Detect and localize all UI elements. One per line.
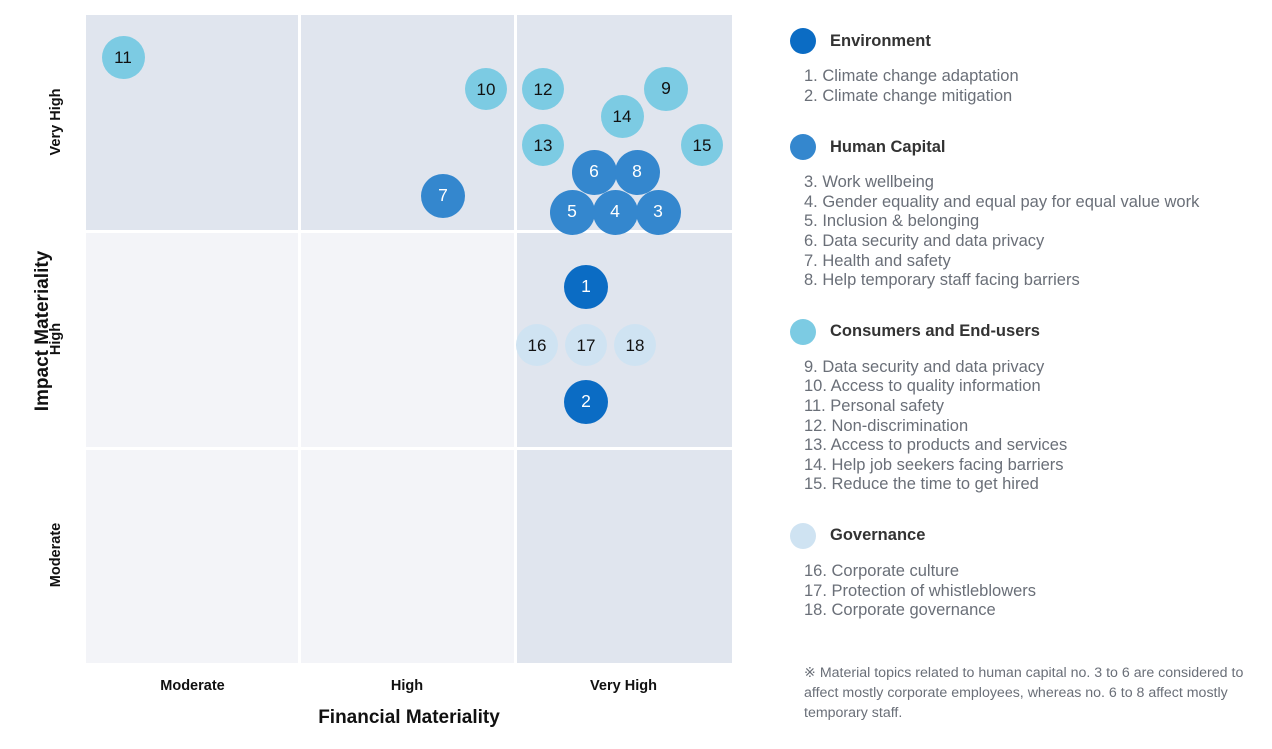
grid-cell-r2-c1 <box>299 448 515 663</box>
bubble-label: 15 <box>693 137 712 154</box>
bubble-label: 7 <box>438 187 448 205</box>
bubble-8[interactable]: 8 <box>615 150 660 195</box>
bubble-label: 1 <box>581 278 591 296</box>
legend-group-environment: Environment1. Climate change adaptation2… <box>790 26 1260 126</box>
grid-vline-1 <box>298 15 301 663</box>
legend-item-consumers-4[interactable]: 12. Non-discrimination <box>804 417 1260 437</box>
legend-group-spacer <box>790 291 1260 311</box>
grid-cell-r0-c1 <box>299 15 515 231</box>
y-tick-very-high: Very High <box>48 47 64 197</box>
legend-item-environment-1[interactable]: 1. Climate change adaptation <box>804 67 1260 87</box>
bubble-label: 6 <box>589 163 599 181</box>
legend-swatch-human_capital-circle-icon <box>790 134 816 160</box>
bubble-label: 12 <box>534 81 553 98</box>
bubble-6[interactable]: 6 <box>572 150 617 195</box>
bubble-label: 4 <box>610 203 620 221</box>
legend-items-human_capital: 3. Work wellbeing4. Gender equality and … <box>804 173 1260 291</box>
legend-item-environment-2[interactable]: 2. Climate change mitigation <box>804 87 1260 107</box>
legend-item-human_capital-5[interactable]: 7. Health and safety <box>804 252 1260 272</box>
legend-header-consumers[interactable]: Consumers and End-users <box>790 317 1260 347</box>
legend-title-consumers: Consumers and End-users <box>830 322 1040 341</box>
grid-hline-1 <box>86 230 732 233</box>
legend-item-human_capital-4[interactable]: 6. Data security and data privacy <box>804 232 1260 252</box>
legend-group-consumers: Consumers and End-users9. Data security … <box>790 317 1260 515</box>
x-tick-very-high: Very High <box>524 678 724 694</box>
bubble-7[interactable]: 7 <box>421 174 465 218</box>
legend-swatch-consumers-circle-icon <box>790 319 816 345</box>
bubble-18[interactable]: 18 <box>614 324 656 366</box>
legend-item-consumers-6[interactable]: 14. Help job seekers facing barriers <box>804 456 1260 476</box>
grid-cell-r2-c2 <box>515 448 732 663</box>
grid-cell-r1-c1 <box>299 231 515 448</box>
bubble-label: 8 <box>632 163 642 181</box>
bubble-9[interactable]: 9 <box>644 67 688 111</box>
legend-header-governance[interactable]: Governance <box>790 521 1260 551</box>
y-tick-moderate: Moderate <box>48 480 64 630</box>
legend-items-governance: 16. Corporate culture17. Protection of w… <box>804 562 1260 621</box>
legend-group-spacer <box>790 495 1260 515</box>
bubble-10[interactable]: 10 <box>465 68 507 110</box>
legend-swatch-governance-circle-icon <box>790 523 816 549</box>
legend-group-spacer <box>790 106 1260 126</box>
x-tick-high: High <box>307 678 507 694</box>
plot-area: 123456789101112131415161718 <box>86 15 732 663</box>
legend-item-governance-1[interactable]: 16. Corporate culture <box>804 562 1260 582</box>
bubble-1[interactable]: 1 <box>564 265 608 309</box>
bubble-3[interactable]: 3 <box>636 190 681 235</box>
bubble-12[interactable]: 12 <box>522 68 564 110</box>
legend-group-governance: Governance16. Corporate culture17. Prote… <box>790 521 1260 641</box>
legend-item-consumers-2[interactable]: 10. Access to quality information <box>804 377 1260 397</box>
legend-item-governance-3[interactable]: 18. Corporate governance <box>804 601 1260 621</box>
bubble-14[interactable]: 14 <box>601 95 644 138</box>
chart-panel: 123456789101112131415161718 Impact Mater… <box>0 0 760 749</box>
legend-groups: Environment1. Climate change adaptation2… <box>790 26 1260 641</box>
bubble-label: 10 <box>477 81 496 98</box>
bubble-label: 2 <box>581 393 591 411</box>
bubble-label: 18 <box>626 337 645 354</box>
bubble-11[interactable]: 11 <box>102 36 145 79</box>
legend-item-human_capital-6[interactable]: 8. Help temporary staff facing barriers <box>804 271 1260 291</box>
bubble-4[interactable]: 4 <box>593 190 638 235</box>
legend-header-environment[interactable]: Environment <box>790 26 1260 56</box>
legend-group-human_capital: Human Capital3. Work wellbeing4. Gender … <box>790 132 1260 311</box>
legend-panel: Environment1. Climate change adaptation2… <box>790 26 1260 726</box>
bubble-label: 3 <box>653 203 663 221</box>
bubble-15[interactable]: 15 <box>681 124 723 166</box>
x-tick-moderate: Moderate <box>93 678 293 694</box>
legend-item-governance-2[interactable]: 17. Protection of whistleblowers <box>804 582 1260 602</box>
legend-item-consumers-1[interactable]: 9. Data security and data privacy <box>804 358 1260 378</box>
grid-hline-2 <box>86 447 732 450</box>
legend-title-human_capital: Human Capital <box>830 138 946 157</box>
bubble-5[interactable]: 5 <box>550 190 595 235</box>
x-axis-title: Financial Materiality <box>86 707 732 729</box>
legend-items-environment: 1. Climate change adaptation2. Climate c… <box>804 67 1260 106</box>
bubble-label: 17 <box>577 337 596 354</box>
legend-item-human_capital-1[interactable]: 3. Work wellbeing <box>804 173 1260 193</box>
legend-items-consumers: 9. Data security and data privacy10. Acc… <box>804 358 1260 495</box>
bubble-label: 16 <box>528 337 547 354</box>
grid-cell-r1-c0 <box>86 231 299 448</box>
bubble-label: 9 <box>661 80 671 98</box>
legend-group-spacer <box>790 621 1260 641</box>
legend-header-human_capital[interactable]: Human Capital <box>790 132 1260 162</box>
bubble-16[interactable]: 16 <box>516 324 558 366</box>
bubble-label: 11 <box>114 49 132 66</box>
y-tick-high: High <box>48 264 64 414</box>
bubble-label: 14 <box>613 108 632 125</box>
bubble-label: 13 <box>534 137 553 154</box>
legend-footnote: ※ Material topics related to human capit… <box>804 663 1256 723</box>
legend-item-consumers-3[interactable]: 11. Personal safety <box>804 397 1260 417</box>
materiality-matrix-figure: 123456789101112131415161718 Impact Mater… <box>0 0 1272 749</box>
legend-item-consumers-7[interactable]: 15. Reduce the time to get hired <box>804 475 1260 495</box>
grid-cell-r2-c0 <box>86 448 299 663</box>
bubble-2[interactable]: 2 <box>564 380 608 424</box>
legend-title-governance: Governance <box>830 526 925 545</box>
legend-item-human_capital-2[interactable]: 4. Gender equality and equal pay for equ… <box>804 193 1260 213</box>
legend-swatch-environment-circle-icon <box>790 28 816 54</box>
bubble-13[interactable]: 13 <box>522 124 564 166</box>
bubble-label: 5 <box>567 203 577 221</box>
legend-title-environment: Environment <box>830 32 931 51</box>
legend-item-consumers-5[interactable]: 13. Access to products and services <box>804 436 1260 456</box>
legend-item-human_capital-3[interactable]: 5. Inclusion & belonging <box>804 212 1260 232</box>
bubble-17[interactable]: 17 <box>565 324 607 366</box>
